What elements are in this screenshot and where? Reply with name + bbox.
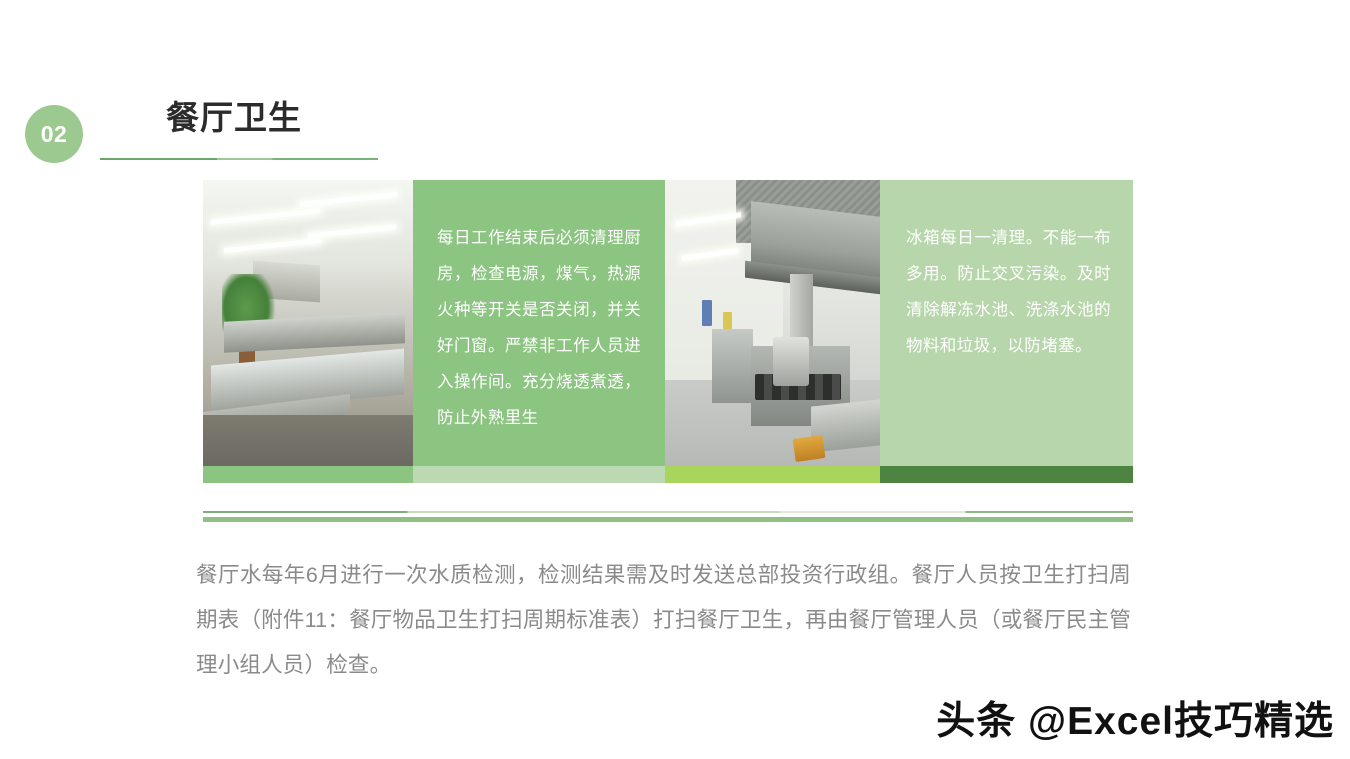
- body-paragraph: 餐厅水每年6月进行一次水质检测，检测结果需及时发送总部投资行政组。餐厅人员按卫生…: [196, 553, 1131, 688]
- accent-segment-4: [880, 466, 1133, 483]
- canteen-kitchen-image: [203, 180, 413, 466]
- steel-cart-shape: [712, 329, 753, 403]
- divider-rule-thick: [203, 517, 1133, 522]
- watermark: 头条 @Excel技巧精选: [936, 702, 1334, 741]
- stainless-kitchen-photo: [665, 180, 880, 466]
- slide: 02 餐厅卫生: [0, 0, 1350, 759]
- accent-segment-3: [665, 466, 880, 483]
- daily-cleanup-text: 每日工作结束后必须清理厨房，检查电源，煤气，热源火种等开关是否关闭，并关好门窗。…: [437, 220, 641, 436]
- title-wrap: 餐厅卫生: [166, 96, 302, 140]
- stainless-kitchen-image: [665, 180, 880, 466]
- food-tray-shape: [793, 435, 826, 462]
- wall-sign-yellow: [723, 312, 732, 329]
- accent-segment-1: [203, 466, 413, 483]
- refrigerator-cleaning-text: 冰箱每日一清理。不能一布多用。防止交叉污染。及时清除解冻水池、洗涤水池的物料和垃…: [906, 220, 1111, 364]
- section-number-badge: 02: [25, 105, 83, 163]
- page-title: 餐厅卫生: [166, 96, 302, 140]
- refrigerator-cleaning-text-box: 冰箱每日一清理。不能一布多用。防止交叉污染。及时清除解冻水池、洗涤水池的物料和垃…: [880, 180, 1133, 466]
- refrigerator-cleaning-text-panel: 冰箱每日一清理。不能一布多用。防止交叉污染。及时清除解冻水池、洗涤水池的物料和垃…: [880, 180, 1133, 466]
- canteen-kitchen-photo: [203, 180, 413, 466]
- daily-cleanup-text-box: 每日工作结束后必须清理厨房，检查电源，煤气，热源火种等开关是否关闭，并关好门窗。…: [413, 180, 665, 466]
- stock-pot-shape: [773, 337, 810, 386]
- accent-segment-2: [413, 466, 665, 483]
- wall-sign-blue: [702, 300, 713, 326]
- divider-rule-thin: [203, 511, 1133, 513]
- slide-header: 02 餐厅卫生: [0, 96, 1350, 176]
- panel-accent-bar: [203, 466, 1133, 483]
- floor-shape: [203, 415, 413, 466]
- daily-cleanup-text-panel: 每日工作结束后必须清理厨房，检查电源，煤气，热源火种等开关是否关闭，并关好门窗。…: [413, 180, 665, 466]
- content-panel-strip: 每日工作结束后必须清理厨房，检查电源，煤气，热源火种等开关是否关闭，并关好门窗。…: [203, 180, 1133, 466]
- title-underline-rule: [100, 158, 378, 160]
